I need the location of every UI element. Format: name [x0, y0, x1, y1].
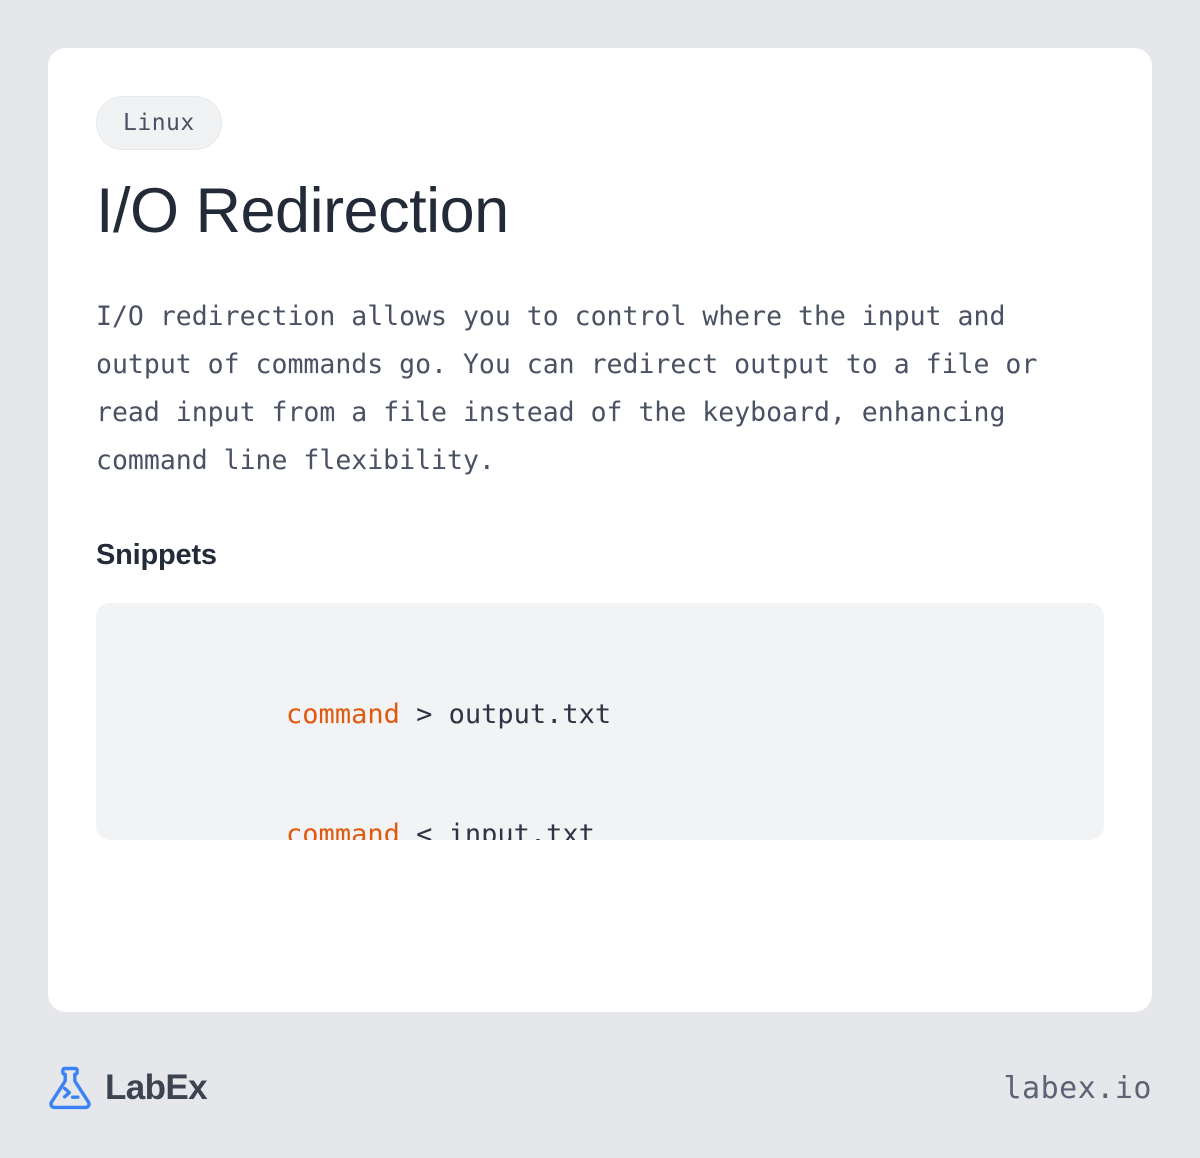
badge-row: Linux — [96, 96, 1104, 154]
description-text: I/O redirection allows you to control wh… — [96, 247, 1106, 485]
category-badge[interactable]: Linux — [96, 96, 222, 150]
code-keyword: command — [286, 699, 400, 730]
footer: LabEx labex.io — [48, 1048, 1152, 1128]
code-keyword: command — [286, 819, 400, 840]
code-line: command < input.txt — [156, 775, 1104, 840]
code-argument: < input.txt — [400, 819, 595, 840]
flask-terminal-icon — [48, 1065, 92, 1111]
site-url[interactable]: labex.io — [1004, 1071, 1153, 1106]
page-root: Linux I/O Redirection I/O redirection al… — [0, 0, 1200, 1158]
page-title: I/O Redirection — [96, 154, 1104, 247]
brand-name: LabEx — [105, 1068, 207, 1108]
brand-logo[interactable]: LabEx — [48, 1065, 207, 1111]
content-card: Linux I/O Redirection I/O redirection al… — [48, 48, 1152, 1012]
code-line: command > output.txt — [156, 655, 1104, 775]
code-block: command > output.txt command < input.txt… — [96, 603, 1104, 840]
snippets-heading: Snippets — [96, 485, 1104, 572]
code-argument: > output.txt — [400, 699, 611, 730]
